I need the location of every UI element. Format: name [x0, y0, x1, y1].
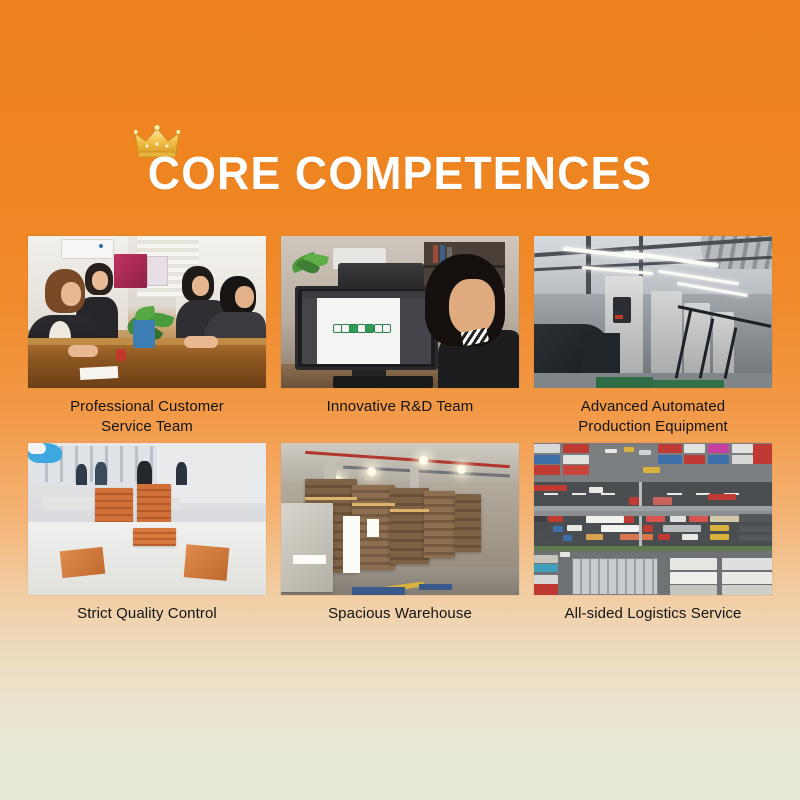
caption-line-1: Advanced Automated [581, 398, 725, 415]
page-title: CORE COMPETENCES [148, 150, 653, 196]
card-strict-quality-control[interactable]: Strict Quality Control [28, 443, 266, 624]
card-caption: Spacious Warehouse [281, 604, 519, 624]
competences-grid: Professional Customer Service Team [28, 236, 772, 624]
card-advanced-automated-production-equipment[interactable]: Advanced Automated Production Equipment [534, 236, 772, 437]
printing-press-photo [534, 236, 772, 388]
caption-line-2: Service Team [101, 418, 193, 435]
card-caption: Strict Quality Control [28, 604, 266, 624]
caption-line-1: Spacious Warehouse [328, 605, 472, 622]
card-caption: All-sided Logistics Service [534, 604, 772, 624]
caption-line-1: Strict Quality Control [77, 605, 217, 622]
quality-inspection-photo [28, 443, 266, 595]
page-title-block: CORE COMPETENCES [0, 150, 800, 196]
designer-at-monitor-photo [281, 236, 519, 388]
caption-line-1: All-sided Logistics Service [565, 605, 742, 622]
card-all-sided-logistics-service[interactable]: All-sided Logistics Service [534, 443, 772, 624]
caption-line-1: Innovative R&D Team [327, 398, 474, 415]
card-caption: Professional Customer Service Team [28, 397, 266, 437]
card-innovative-rd-team[interactable]: Innovative R&D Team [281, 236, 519, 437]
card-caption: Innovative R&D Team [281, 397, 519, 417]
meeting-room-photo [28, 236, 266, 388]
card-caption: Advanced Automated Production Equipment [534, 397, 772, 437]
caption-line-2: Production Equipment [578, 418, 728, 435]
card-spacious-warehouse[interactable]: Spacious Warehouse [281, 443, 519, 624]
warehouse-pallets-photo [281, 443, 519, 595]
caption-line-1: Professional Customer [70, 398, 224, 415]
card-professional-customer-service-team[interactable]: Professional Customer Service Team [28, 236, 266, 437]
aerial-container-yard-photo [534, 443, 772, 595]
banner-root: CORE COMPETENCES [0, 0, 800, 800]
